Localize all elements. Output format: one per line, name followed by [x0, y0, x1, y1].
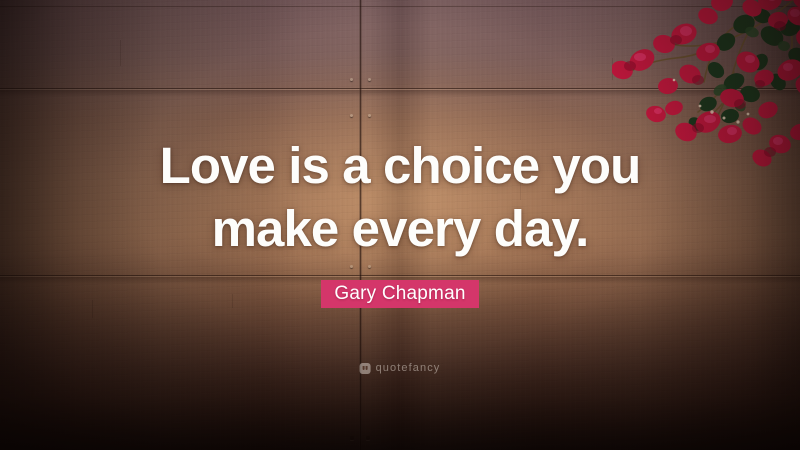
quote-text: Love is a choice you make every day. [60, 134, 740, 260]
watermark-label: quotefancy [376, 363, 441, 374]
quote-line-2: make every day. [60, 197, 740, 260]
quote-content: Love is a choice you make every day. Gar… [0, 0, 800, 450]
author-badge: Gary Chapman [321, 280, 478, 308]
author-row: Gary Chapman [321, 280, 478, 308]
quote-poster: Love is a choice you make every day. Gar… [0, 0, 800, 450]
quote-line-1: Love is a choice you [60, 134, 740, 197]
quotefancy-watermark[interactable]: quotefancy [360, 363, 441, 374]
quote-mark-icon [360, 363, 371, 374]
